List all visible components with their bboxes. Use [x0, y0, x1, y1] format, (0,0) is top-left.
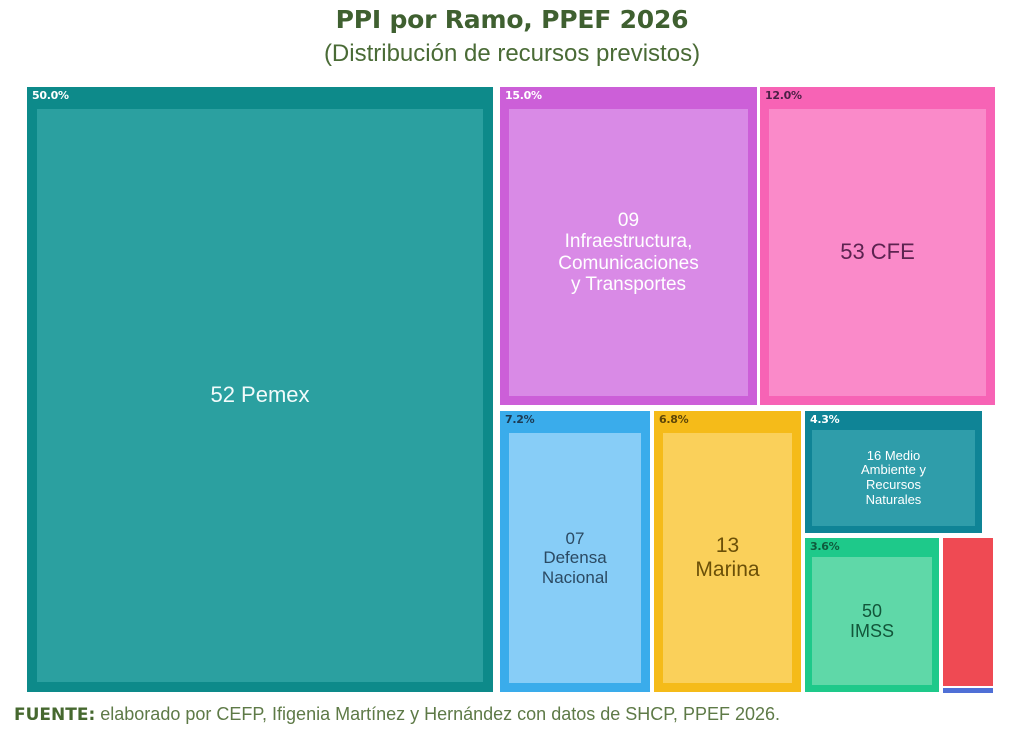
treemap-tile-defensa-nacional[interactable]: 7.2% 07 Defensa Nacional: [500, 411, 650, 692]
title-block: PPI por Ramo, PPEF 2026 (Distribución de…: [0, 4, 1024, 70]
source-text: elaborado por CEFP, Ifigenia Martínez y …: [95, 704, 780, 724]
treemap-tile-pemex[interactable]: 50.0% 52 Pemex: [27, 87, 493, 692]
tile-inner-defensa-nacional: 07 Defensa Nacional: [509, 433, 641, 683]
treemap-tile-unlabeled-red[interactable]: [943, 538, 993, 686]
chart-subtitle: (Distribución de recursos previstos): [0, 38, 1024, 70]
tile-label-imss: 50 IMSS: [846, 601, 898, 641]
chart-title: PPI por Ramo, PPEF 2026: [0, 4, 1024, 36]
tile-inner-cfe: 53 CFE: [769, 109, 986, 396]
treemap-tile-medio-ambiente[interactable]: 4.3% 16 Medio Ambiente y Recursos Natura…: [805, 411, 982, 533]
tile-label-pemex: 52 Pemex: [206, 383, 313, 408]
tile-label-infraestructura: 09 Infraestructura, Comunicaciones y Tra…: [554, 210, 702, 295]
tile-inner-infraestructura: 09 Infraestructura, Comunicaciones y Tra…: [509, 109, 748, 396]
tile-percentage-imss: 3.6%: [810, 540, 839, 554]
tile-percentage-infraestructura: 15.0%: [505, 89, 542, 103]
tile-label-medio-ambiente: 16 Medio Ambiente y Recursos Naturales: [857, 449, 930, 507]
tile-inner-marina: 13 Marina: [663, 433, 792, 683]
treemap-tile-marina[interactable]: 6.8% 13 Marina: [654, 411, 801, 692]
treemap-tile-unlabeled-blue[interactable]: [943, 688, 993, 693]
tile-label-cfe: 53 CFE: [836, 240, 919, 265]
tile-percentage-marina: 6.8%: [659, 413, 688, 427]
tile-inner-imss: 50 IMSS: [812, 557, 932, 685]
tile-percentage-defensa-nacional: 7.2%: [505, 413, 534, 427]
tile-percentage-cfe: 12.0%: [765, 89, 802, 103]
source-label: FUENTE:: [14, 705, 95, 725]
treemap-page: PPI por Ramo, PPEF 2026 (Distribución de…: [0, 0, 1024, 740]
tile-label-marina: 13 Marina: [691, 534, 763, 581]
tile-percentage-pemex: 50.0%: [32, 89, 69, 103]
treemap-tile-imss[interactable]: 3.6% 50 IMSS: [805, 538, 939, 692]
tile-label-defensa-nacional: 07 Defensa Nacional: [538, 529, 612, 586]
treemap-chart: 50.0% 52 Pemex 15.0% 09 Infraestructura,…: [27, 87, 995, 692]
source-footnote: FUENTE: elaborado por CEFP, Ifigenia Mar…: [14, 702, 1014, 727]
tile-inner-pemex: 52 Pemex: [37, 109, 483, 682]
tile-inner-medio-ambiente: 16 Medio Ambiente y Recursos Naturales: [812, 430, 975, 526]
treemap-tile-cfe[interactable]: 12.0% 53 CFE: [760, 87, 995, 405]
treemap-tile-infraestructura[interactable]: 15.0% 09 Infraestructura, Comunicaciones…: [500, 87, 757, 405]
tile-percentage-medio-ambiente: 4.3%: [810, 413, 839, 427]
